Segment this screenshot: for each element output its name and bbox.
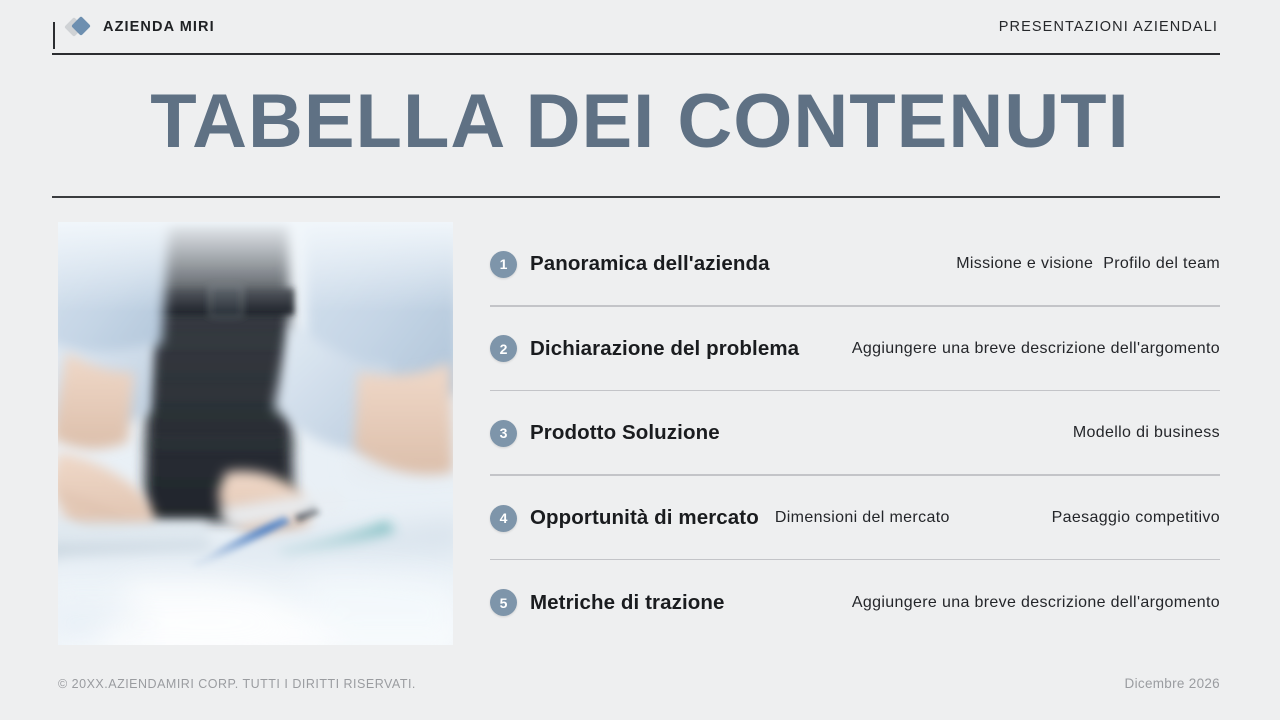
toc-item-title: Dichiarazione del problema	[530, 337, 799, 361]
toc-row[interactable]: 2 Dichiarazione del problema Aggiungere …	[490, 307, 1220, 392]
toc-row[interactable]: 4 Opportunità di mercato Dimensioni del …	[490, 476, 1220, 561]
toc-item-subitems: Modello di business	[720, 424, 1220, 442]
title-divider	[52, 196, 1220, 198]
page-title: TABELLA DEI CONTENUTI	[0, 84, 1280, 160]
toc-item-title: Panoramica dell'azienda	[530, 252, 770, 276]
toc-number-badge: 4	[490, 505, 517, 532]
toc-number-badge: 3	[490, 420, 517, 447]
toc-subitem: Dimensioni del mercato	[775, 509, 950, 527]
toc-row[interactable]: 1 Panoramica dell'azienda Missione e vis…	[490, 222, 1220, 307]
toc-item-title: Opportunità di mercato	[530, 506, 759, 530]
slide-footer: © 20XX.AZIENDAMIRI CORP. TUTTI I DIRITTI…	[58, 676, 1220, 691]
toc-row[interactable]: 3 Prodotto Soluzione Modello di business	[490, 391, 1220, 476]
toc-item-title: Metriche di trazione	[530, 591, 725, 615]
header-right-label: PRESENTAZIONI AZIENDALI	[999, 19, 1220, 35]
header-divider	[52, 53, 1220, 55]
toc-subitem: Profilo del team	[1103, 255, 1220, 273]
toc-number-badge: 5	[490, 589, 517, 616]
slide-header: AZIENDA MIRI PRESENTAZIONI AZIENDALI	[52, 0, 1220, 55]
toc-number-badge: 1	[490, 251, 517, 278]
slide-root: AZIENDA MIRI PRESENTAZIONI AZIENDALI TAB…	[0, 0, 1280, 720]
toc-item-subitems: Dimensioni del mercato Paesaggio competi…	[759, 509, 1220, 527]
toc-number-badge: 2	[490, 335, 517, 362]
footer-date: Dicembre 2026	[1125, 676, 1220, 691]
brand-name: AZIENDA MIRI	[103, 19, 215, 35]
footer-copyright: © 20XX.AZIENDAMIRI CORP. TUTTI I DIRITTI…	[58, 677, 416, 691]
toc-item-title: Prodotto Soluzione	[530, 421, 720, 445]
brand-lockup: AZIENDA MIRI	[52, 16, 215, 38]
toc-item-subitems: Aggiungere una breve descrizione dell'ar…	[725, 594, 1220, 612]
diamond-logo-icon	[66, 16, 94, 38]
toc-subitem: Paesaggio competitivo	[1052, 509, 1220, 527]
toc-row[interactable]: 5 Metriche di trazione Aggiungere una br…	[490, 560, 1220, 645]
toc-subitem: Missione e visione	[956, 255, 1093, 273]
toc-item-subitems: Aggiungere una breve descrizione dell'ar…	[799, 340, 1220, 358]
toc-subitem: Aggiungere una breve descrizione dell'ar…	[852, 340, 1220, 358]
hero-photo-image	[58, 222, 453, 645]
hero-photo	[58, 222, 453, 645]
toc-subitem: Modello di business	[1073, 424, 1220, 442]
toc-list: 1 Panoramica dell'azienda Missione e vis…	[490, 222, 1220, 645]
toc-subitem: Aggiungere una breve descrizione dell'ar…	[852, 594, 1220, 612]
toc-item-subitems: Missione e visione Profilo del team	[770, 255, 1220, 273]
